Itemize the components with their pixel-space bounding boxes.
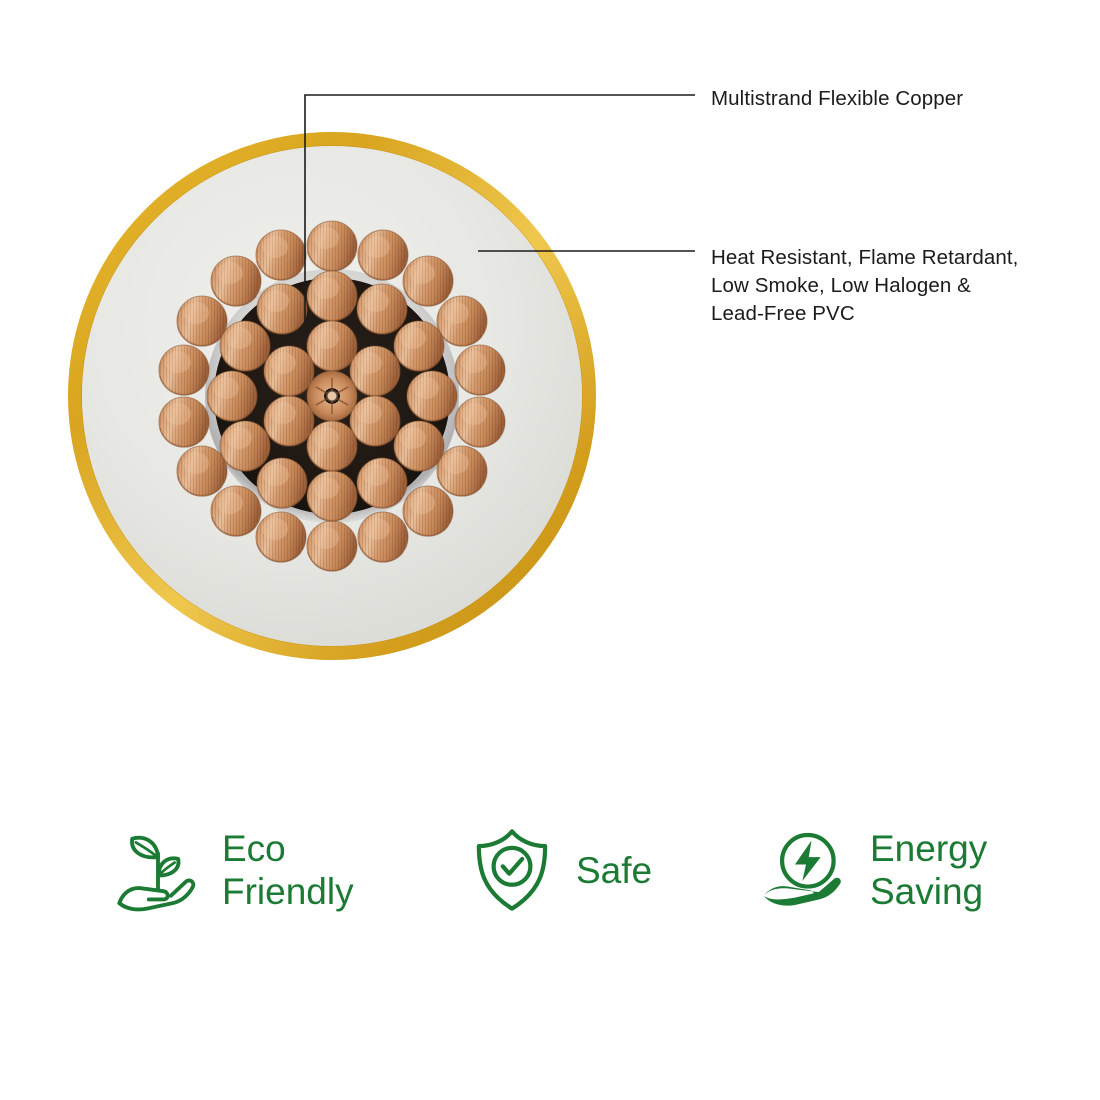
feature-label-eco-friendly: Eco Friendly: [222, 827, 354, 913]
hand-bolt-icon: [760, 824, 852, 916]
shield-check-icon: [466, 824, 558, 916]
callout-label-insulation: Heat Resistant, Flame Retardant, Low Smo…: [711, 244, 1018, 328]
feature-safe: Safe: [466, 824, 652, 916]
feature-eco-friendly: Eco Friendly: [112, 824, 354, 916]
feature-label-energy-saving: Energy Saving: [870, 827, 987, 913]
cable-cross-section-figure: [0, 0, 700, 720]
feature-label-safe: Safe: [576, 849, 652, 892]
feature-energy-saving: Energy Saving: [760, 824, 987, 916]
hand-plant-icon: [112, 824, 204, 916]
feature-strip: Eco Friendly Safe Energy Saving: [0, 810, 1100, 940]
callout-label-conductor: Multistrand Flexible Copper: [711, 85, 963, 113]
center-copper-strand: [307, 371, 357, 421]
